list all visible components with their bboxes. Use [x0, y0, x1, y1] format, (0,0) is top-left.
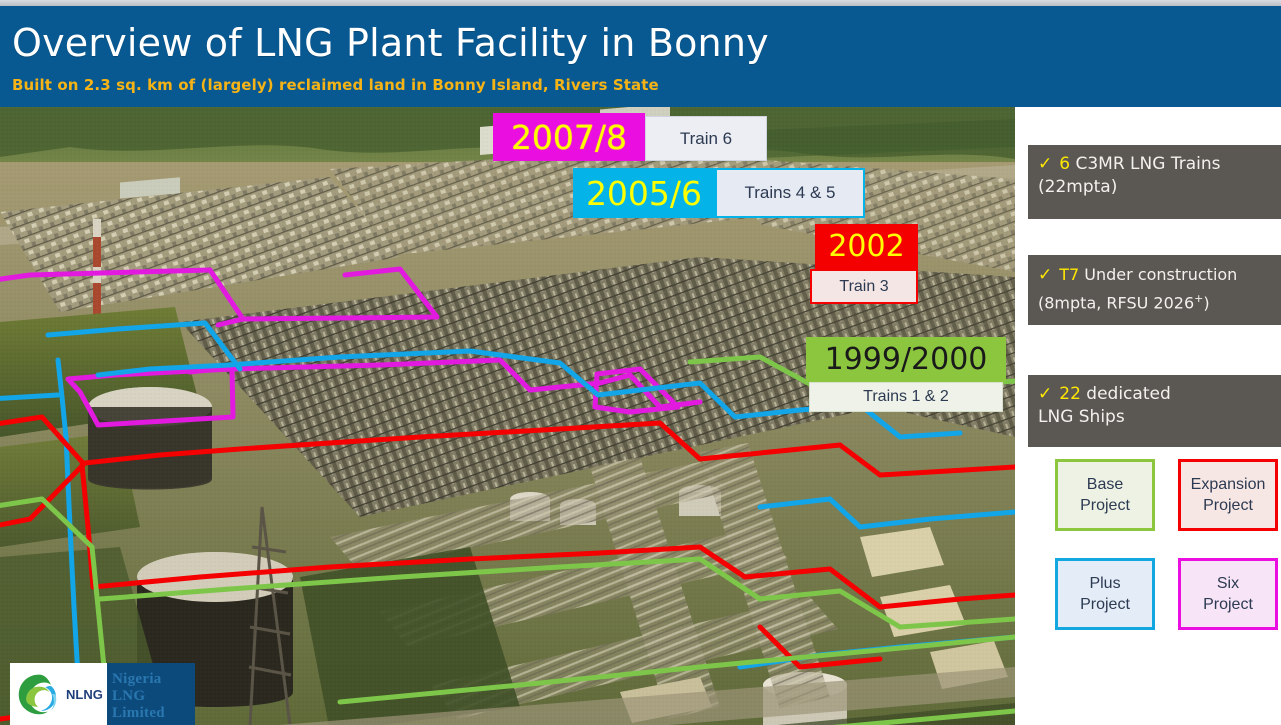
- legend-item-expansion-project[interactable]: Expansion Project: [1178, 459, 1278, 531]
- nlng-swoosh-icon: [16, 671, 62, 717]
- legend-item-plus-project[interactable]: Plus Project: [1055, 558, 1155, 630]
- callout-trains-4-5: 2005/6 Trains 4 & 5: [573, 168, 715, 218]
- info-text-trains: C3MR LNG Trains: [1075, 154, 1220, 174]
- callout-trains-1-2: 1999/2000 Trains 1 & 2: [806, 337, 1006, 382]
- legend-exp-line1: Expansion: [1191, 474, 1266, 495]
- logo-brand-text: NLNG: [66, 687, 103, 702]
- callout-label-trains-4-5: Trains 4 & 5: [715, 168, 865, 218]
- logo-blue-panel: Nigeria LNG Limited: [107, 663, 195, 725]
- logo-white-panel: NLNG: [10, 663, 107, 725]
- info-text-construction: Under construction: [1084, 265, 1237, 284]
- check-icon: ✓: [1038, 154, 1052, 174]
- info-highlight-t7: T7: [1059, 265, 1079, 284]
- logo-company-line1: Nigeria: [112, 671, 162, 687]
- sidebar: ✓6 C3MR LNG Trains (22mpta) ✓T7 Under co…: [1015, 107, 1281, 725]
- page-subtitle: Built on 2.3 sq. km of (largely) reclaim…: [12, 76, 659, 94]
- legend-plus-line1: Plus: [1089, 573, 1120, 594]
- logo-company-line2: LNG: [112, 688, 145, 704]
- callout-train-3: 2002 Train 3: [815, 224, 918, 269]
- legend-exp-line2: Project: [1203, 495, 1253, 516]
- info-box-t7: ✓T7 Under construction (8mpta, RFSU 2026…: [1028, 255, 1281, 325]
- callout-label-train-6: Train 6: [645, 116, 767, 161]
- info-text-dedicated: dedicated: [1086, 384, 1170, 404]
- legend-item-six-project[interactable]: Six Project: [1178, 558, 1278, 630]
- callout-year-2005: 2005/6: [573, 168, 715, 218]
- info-highlight-6: 6: [1059, 154, 1070, 174]
- callout-year-2002: 2002: [815, 224, 918, 269]
- info-text-rfsu: (8mpta, RFSU 2026: [1038, 293, 1194, 312]
- info-text-lng-ships: LNG Ships: [1038, 407, 1125, 427]
- callout-label-trains-1-2: Trains 1 & 2: [809, 382, 1003, 412]
- callout-train-6: 2007/8 Train 6: [493, 113, 645, 161]
- info-superscript-plus: +: [1194, 292, 1203, 305]
- check-icon: ✓: [1038, 384, 1052, 404]
- nlng-logo: NLNG Nigeria LNG Limited: [10, 663, 195, 725]
- legend-item-base-project[interactable]: Base Project: [1055, 459, 1155, 531]
- info-text-rfsu-end: ): [1203, 293, 1209, 312]
- callout-label-train-3: Train 3: [810, 269, 918, 304]
- logo-company-line3: Limited: [112, 705, 165, 721]
- page-title: Overview of LNG Plant Facility in Bonny: [12, 21, 769, 65]
- slide-header: Overview of LNG Plant Facility in Bonny …: [0, 6, 1281, 107]
- check-icon: ✓: [1038, 265, 1052, 285]
- legend-six-line2: Project: [1203, 594, 1253, 615]
- callout-year-2007: 2007/8: [493, 113, 645, 161]
- legend-base-line2: Project: [1080, 495, 1130, 516]
- info-text-capacity: (22mpta): [1038, 177, 1117, 197]
- legend-base-line1: Base: [1087, 474, 1123, 495]
- info-box-trains: ✓6 C3MR LNG Trains (22mpta): [1028, 145, 1281, 219]
- callout-year-1999: 1999/2000: [806, 337, 1006, 382]
- legend-six-line1: Six: [1217, 573, 1239, 594]
- legend-plus-line2: Project: [1080, 594, 1130, 615]
- slide-root: Overview of LNG Plant Facility in Bonny …: [0, 0, 1281, 725]
- info-box-ships: ✓22 dedicated LNG Ships: [1028, 375, 1281, 447]
- info-highlight-22: 22: [1059, 384, 1081, 404]
